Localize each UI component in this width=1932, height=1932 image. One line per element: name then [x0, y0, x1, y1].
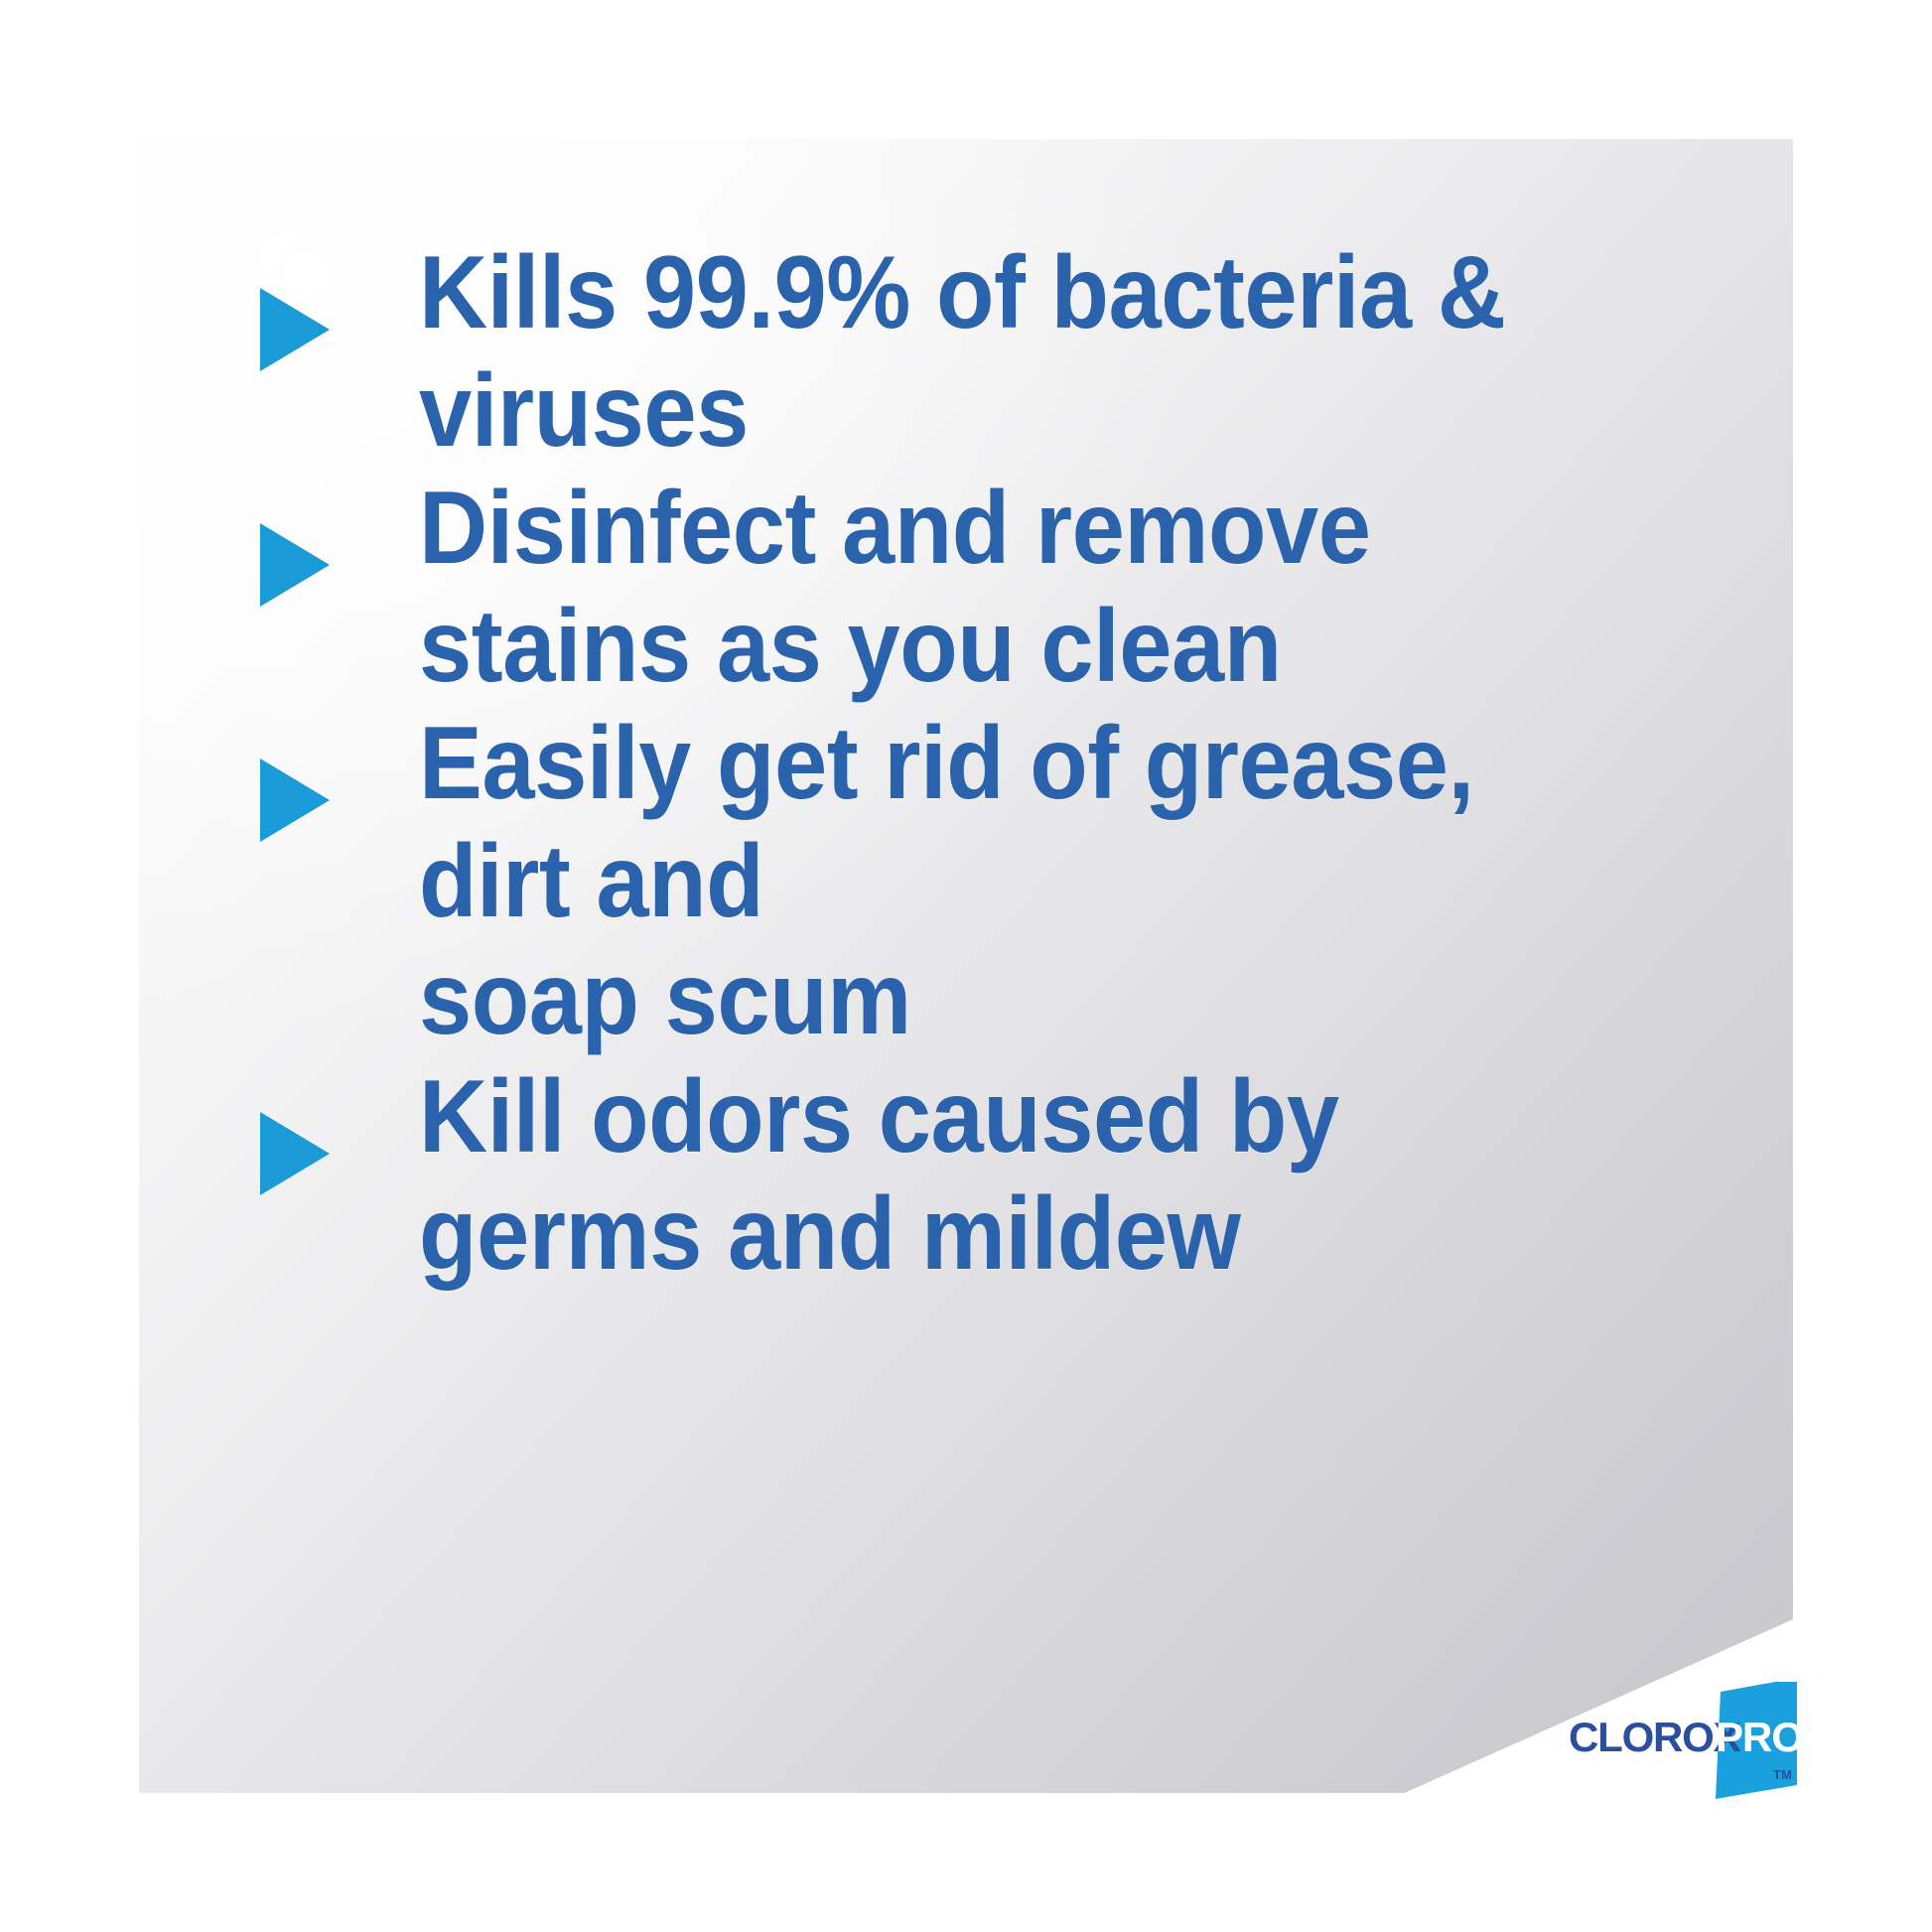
- triangle-right-icon: [260, 288, 330, 371]
- list-item: Disinfect and remove stains as you clean: [260, 470, 1650, 705]
- benefit-text: Easily get rid of grease, dirt and soap …: [419, 705, 1552, 1058]
- benefit-text: Kills 99.9% of bacteria & viruses: [419, 234, 1552, 470]
- triangle-right-icon: [260, 523, 330, 607]
- list-item: Kills 99.9% of bacteria & viruses: [260, 234, 1650, 470]
- logo-wordmark-pro: PRO: [1716, 1714, 1803, 1760]
- list-item: Easily get rid of grease, dirt and soap …: [260, 705, 1650, 1058]
- cloroxpro-logo: PRO CLOROX PRO TM: [1567, 1674, 1805, 1813]
- benefit-text: Disinfect and remove stains as you clean: [419, 470, 1552, 705]
- triangle-right-icon: [260, 1112, 330, 1195]
- poster-canvas: Kills 99.9% of bacteria & viruses Disinf…: [0, 0, 1932, 1932]
- list-item: Kill odors caused by germs and mildew: [260, 1058, 1650, 1294]
- benefits-list: Kills 99.9% of bacteria & viruses Disinf…: [260, 234, 1650, 1294]
- benefit-text: Kill odors caused by germs and mildew: [419, 1058, 1552, 1294]
- logo-trademark: TM: [1773, 1767, 1792, 1782]
- triangle-right-icon: [260, 759, 330, 842]
